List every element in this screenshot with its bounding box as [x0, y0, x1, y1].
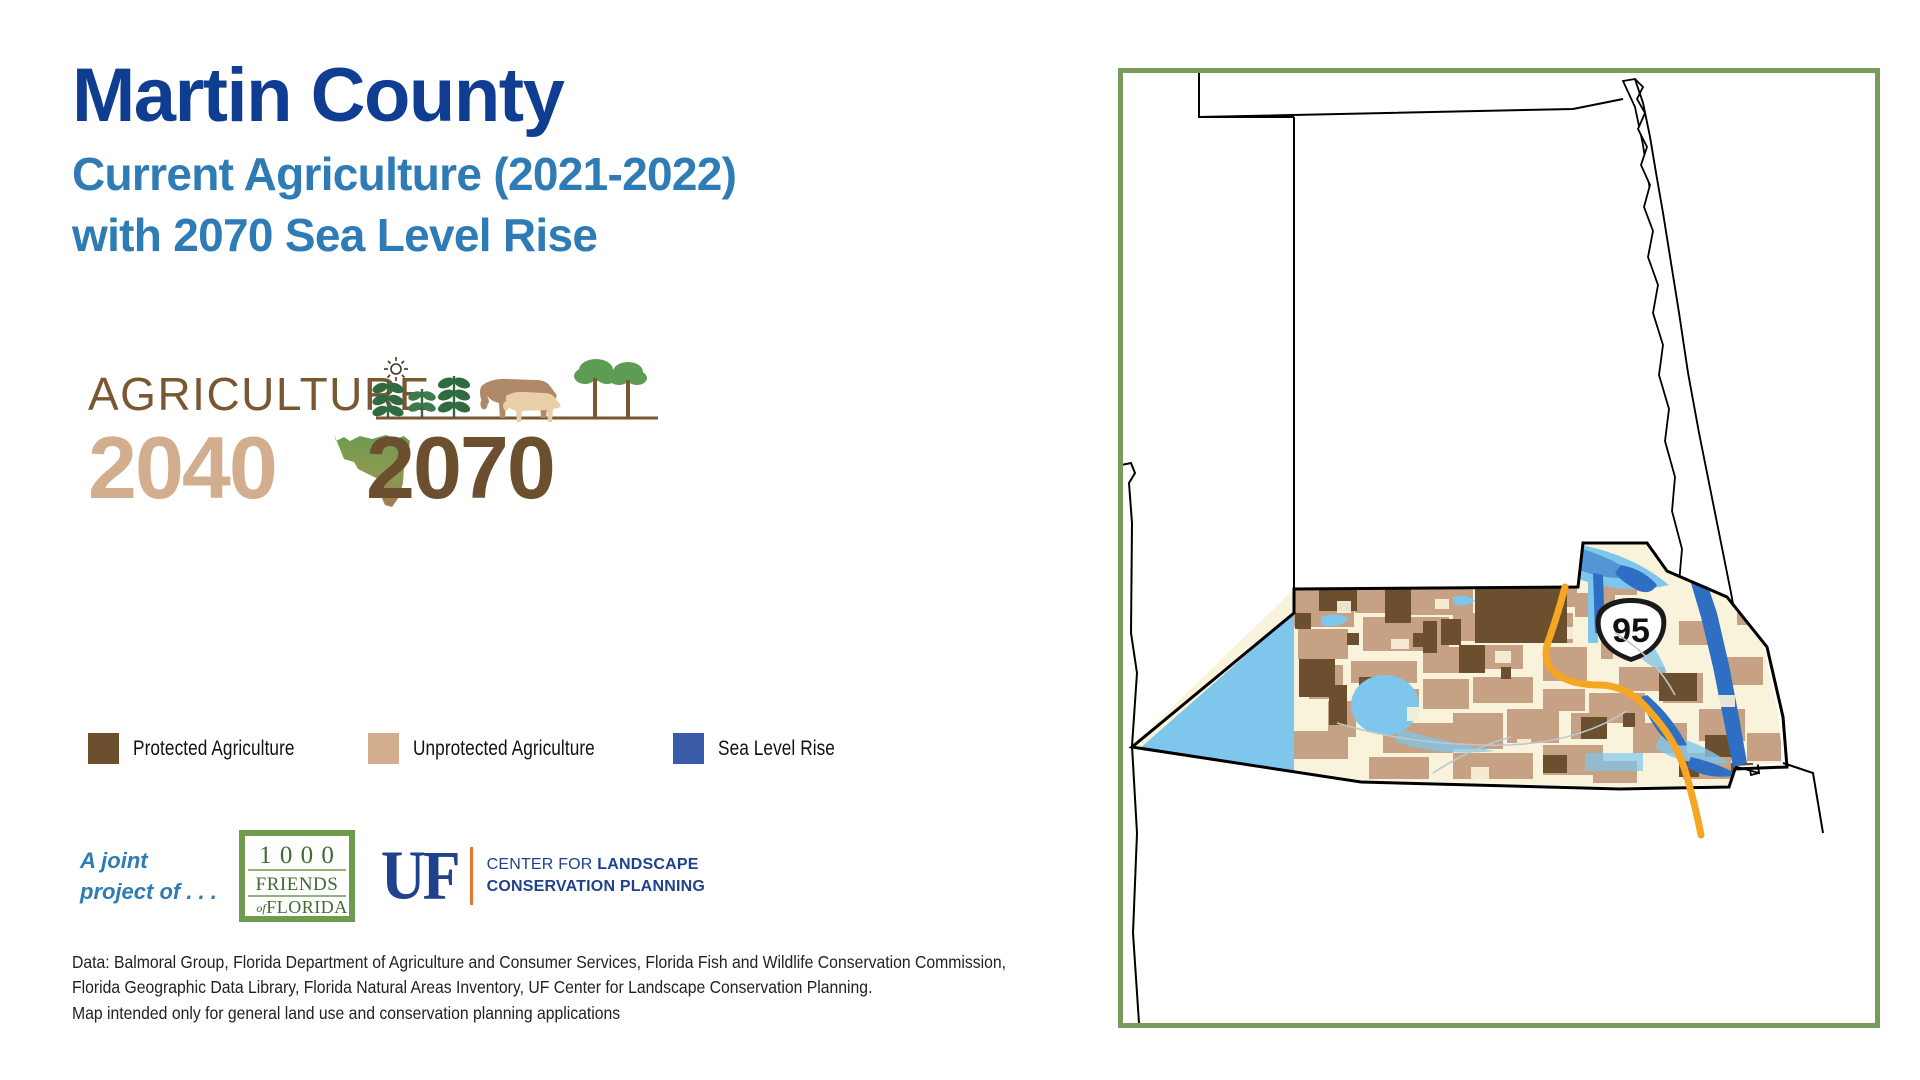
uf-divider-rule — [470, 847, 473, 905]
uf-wordmark: UF — [381, 846, 458, 905]
title-block: Martin County Current Agriculture (2021-… — [72, 58, 1072, 265]
martin-county-map[interactable]: 95 — [1123, 73, 1875, 1023]
legend-label-unprotected-agriculture: Unprotected Agriculture — [413, 737, 595, 761]
legend-label-sea-level-rise: Sea Level Rise — [718, 737, 835, 761]
1000-friends-of-florida-logo: 1 0 0 0 FRIENDS of FLORIDA — [239, 830, 355, 922]
partner-logos: A joint project of . . . 1 0 0 0 FRIENDS… — [80, 830, 705, 922]
uf-tagline-prefix: CENTER FOR — [487, 856, 598, 873]
legend-item-sea-level-rise: Sea Level Rise — [673, 733, 861, 764]
uf-center-for-landscape-conservation-planning-logo: UF CENTER FOR LANDSCAPE CONSERVATION PLA… — [381, 847, 705, 905]
legend-item-unprotected-agriculture: Unprotected Agriculture — [368, 733, 635, 764]
agriculture-2040-2070-logo: AGRICULTURE — [88, 348, 728, 508]
footer-line-2: Florida Geographic Data Library, Florida… — [72, 975, 981, 1000]
slide-root: Martin County Current Agriculture (2021-… — [0, 0, 1920, 1080]
logo-year-2070: 2070 — [366, 418, 554, 508]
data-citation-footer: Data: Balmoral Group, Florida Department… — [72, 950, 1082, 1026]
tree-icon — [609, 362, 647, 418]
subtitle-line-1: Current Agriculture (2021-2022) — [72, 144, 1072, 205]
ffof-line-2: FRIENDS — [256, 874, 339, 895]
map-legend: Protected Agriculture Unprotected Agricu… — [88, 733, 898, 764]
legend-swatch-unprotected-agriculture — [368, 733, 399, 764]
ffof-line-3: FLORIDA — [266, 897, 348, 917]
page-title: Martin County — [72, 58, 1072, 134]
uf-tagline-bold-2: CONSERVATION PLANNING — [487, 878, 705, 895]
uf-tagline-bold-1: LANDSCAPE — [597, 856, 698, 873]
legend-swatch-protected-agriculture — [88, 733, 119, 764]
legend-label-protected-agriculture: Protected Agriculture — [133, 737, 295, 761]
uf-tagline-line-1: CENTER FOR LANDSCAPE — [487, 854, 705, 876]
subtitle-line-2: with 2070 Sea Level Rise — [72, 205, 1072, 266]
footer-line-3: Map intended only for general land use a… — [72, 1001, 981, 1026]
map-panel[interactable]: 95 — [1118, 68, 1880, 1028]
joint-project-text: A joint project of . . . — [80, 845, 217, 907]
info-panel: Martin County Current Agriculture (2021-… — [0, 0, 1100, 1080]
crop-plant-icon — [436, 375, 471, 418]
logo-year-2040: 2040 — [88, 418, 276, 508]
uf-tagline-line-2: CONSERVATION PLANNING — [487, 876, 705, 898]
legend-item-protected-agriculture: Protected Agriculture — [88, 733, 330, 764]
footer-line-1: Data: Balmoral Group, Florida Department… — [72, 950, 981, 975]
legend-swatch-sea-level-rise — [673, 733, 704, 764]
ffof-line-1: 1 0 0 0 — [259, 842, 335, 869]
tree-icon — [574, 359, 618, 418]
crop-plant-icon — [371, 381, 405, 419]
map-background — [1123, 73, 1875, 1023]
